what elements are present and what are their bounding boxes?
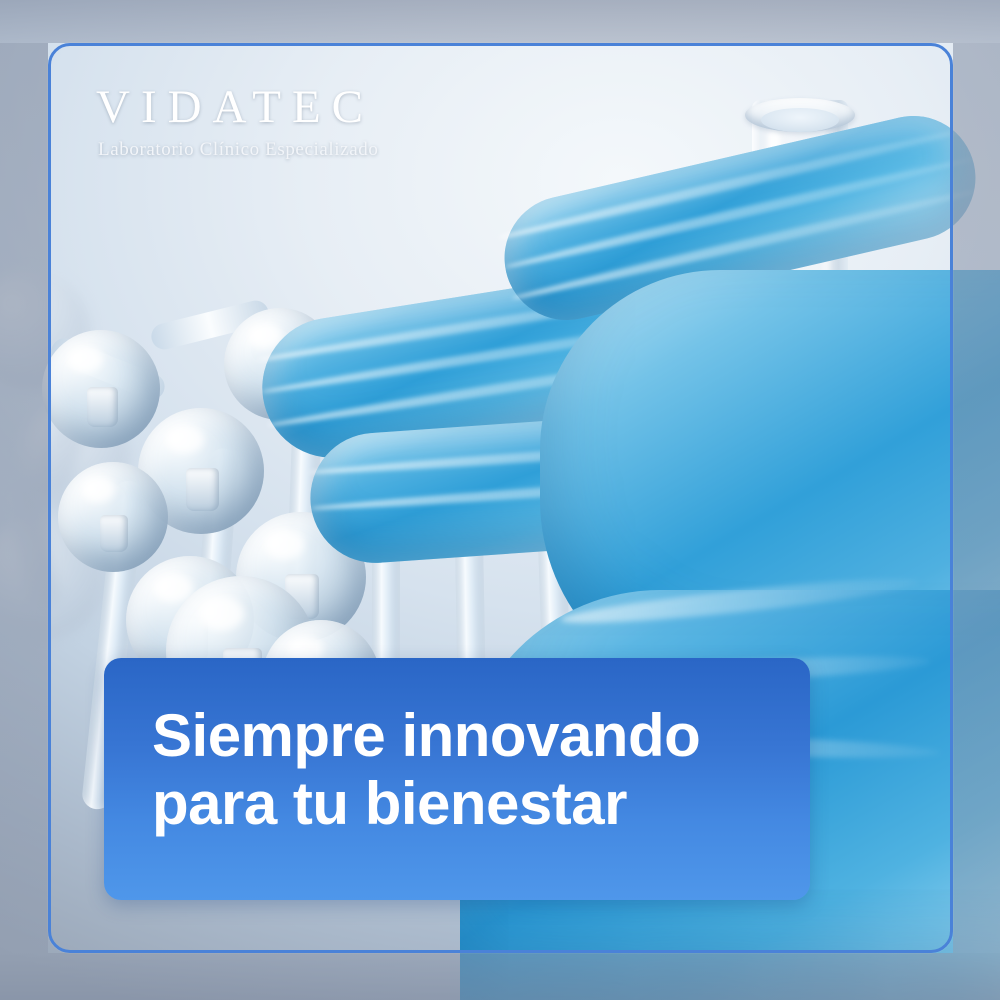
- poster-canvas: VIDATEC Laboratorio Clínico Especializad…: [0, 0, 1000, 1000]
- headline-text: Siempre innovando para tu bienestar: [152, 702, 784, 838]
- brand-tagline: Laboratorio Clínico Especializado: [98, 140, 378, 159]
- brand-name: VIDATEC: [96, 84, 378, 131]
- gloved-hand: [440, 120, 1000, 680]
- headline-line-2: para tu bienestar: [152, 770, 784, 838]
- outer-mute-left: [0, 43, 48, 953]
- headline-banner: Siempre innovando para tu bienestar: [104, 658, 810, 900]
- outer-mute-bottom: [0, 953, 1000, 1000]
- outer-mute-top: [0, 0, 1000, 43]
- brand-logo: VIDATEC Laboratorio Clínico Especializad…: [96, 84, 378, 159]
- outer-mute-right: [953, 43, 1000, 953]
- headline-line-1: Siempre innovando: [152, 702, 700, 769]
